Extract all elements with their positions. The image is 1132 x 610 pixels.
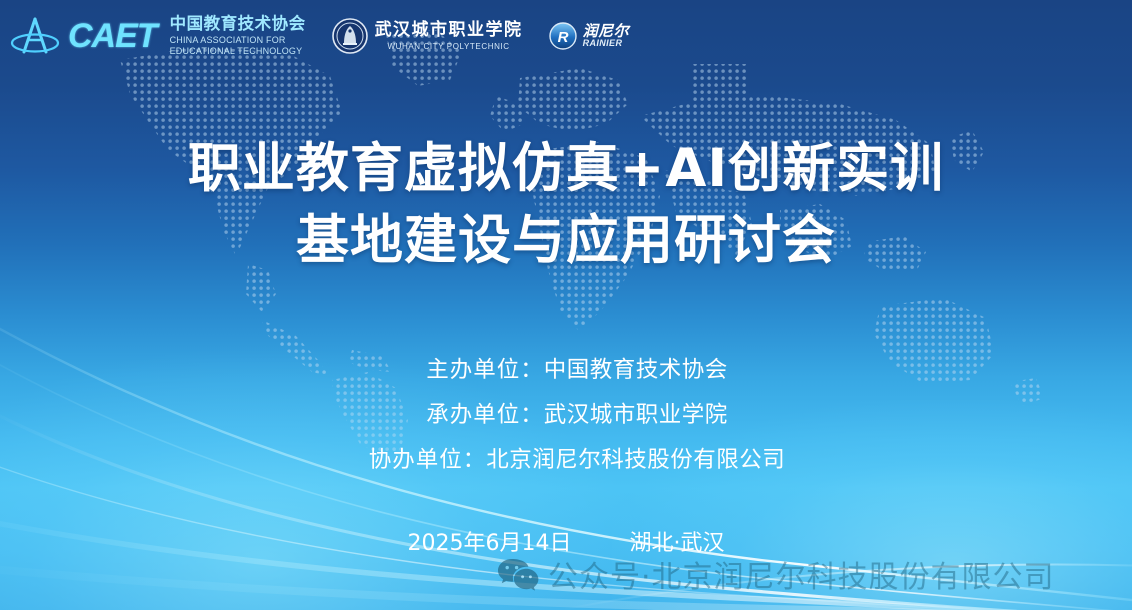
rainier-logo: R 润尼尔 RAINIER [549,22,630,50]
wechat-icon [497,557,539,591]
circular-seal-icon [332,18,368,54]
organizer-value-coorganizer: 北京润尼尔科技股份有限公司 [486,447,785,473]
title-line-2: 基地建设与应用研讨会 [0,205,1132,277]
event-title: 职业教育虚拟仿真+AI创新实训 基地建设与应用研讨会 [0,133,1132,277]
organizer-row-coorganizer: 协办单位：北京润尼尔科技股份有限公司 [0,438,1132,483]
caet-acronym: CAET [68,19,157,53]
rainier-chinese-name: 润尼尔 [583,23,630,40]
wechat-watermark: 公众号·北京润尼尔科技股份有限公司 [497,552,1055,596]
caet-acronym-wordmark: CAET [68,19,157,53]
organizer-value-host: 中国教育技术协会 [544,357,728,383]
wechat-watermark-text: 公众号·北京润尼尔科技股份有限公司 [548,552,1055,596]
organizer-row-host: 主办单位：中国教育技术协会 [0,348,1132,393]
r-badge-icon: R [549,22,577,50]
organizer-value-undertaker: 武汉城市职业学院 [544,402,728,428]
caet-english-line2: EDUCATIONAL TECHNOLOGY [170,46,306,57]
sponsor-logo-bar: CAET 中国教育技术协会 CHINA ASSOCIATION FOR EDUC… [0,0,1132,72]
caet-logo: CAET 中国教育技术协会 CHINA ASSOCIATION FOR EDUC… [8,14,306,58]
organizer-label-coorganizer: 协办单位： [369,447,487,473]
conference-banner: CAET 中国教育技术协会 CHINA ASSOCIATION FOR EDUC… [0,0,1132,610]
rainier-english-name: RAINIER [583,39,623,49]
wuhan-city-polytechnic-logo: 武汉城市职业学院 WUHAN CITY POLYTECHNIC [332,18,523,54]
caet-english-line1: CHINA ASSOCIATION FOR [170,35,306,46]
wuhan-chinese-name: 武汉城市职业学院 [375,21,523,41]
caet-chinese-name: 中国教育技术协会 [170,15,306,34]
caet-name-block: 中国教育技术协会 CHINA ASSOCIATION FOR EDUCATION… [170,15,306,58]
rainier-name-block: 润尼尔 RAINIER [583,23,630,49]
wuhan-name-block: 武汉城市职业学院 WUHAN CITY POLYTECHNIC [375,21,523,51]
title-line-1: 职业教育虚拟仿真+AI创新实训 [0,133,1132,205]
svg-text:R: R [557,29,568,46]
triangle-ellipse-icon [8,14,62,58]
organizer-list: 主办单位：中国教育技术协会 承办单位：武汉城市职业学院 协办单位：北京润尼尔科技… [0,348,1132,483]
wuhan-english-name: WUHAN CITY POLYTECHNIC [375,42,523,51]
organizer-label-undertaker: 承办单位： [426,402,544,428]
organizer-label-host: 主办单位： [426,357,544,383]
organizer-row-undertaker: 承办单位：武汉城市职业学院 [0,393,1132,438]
